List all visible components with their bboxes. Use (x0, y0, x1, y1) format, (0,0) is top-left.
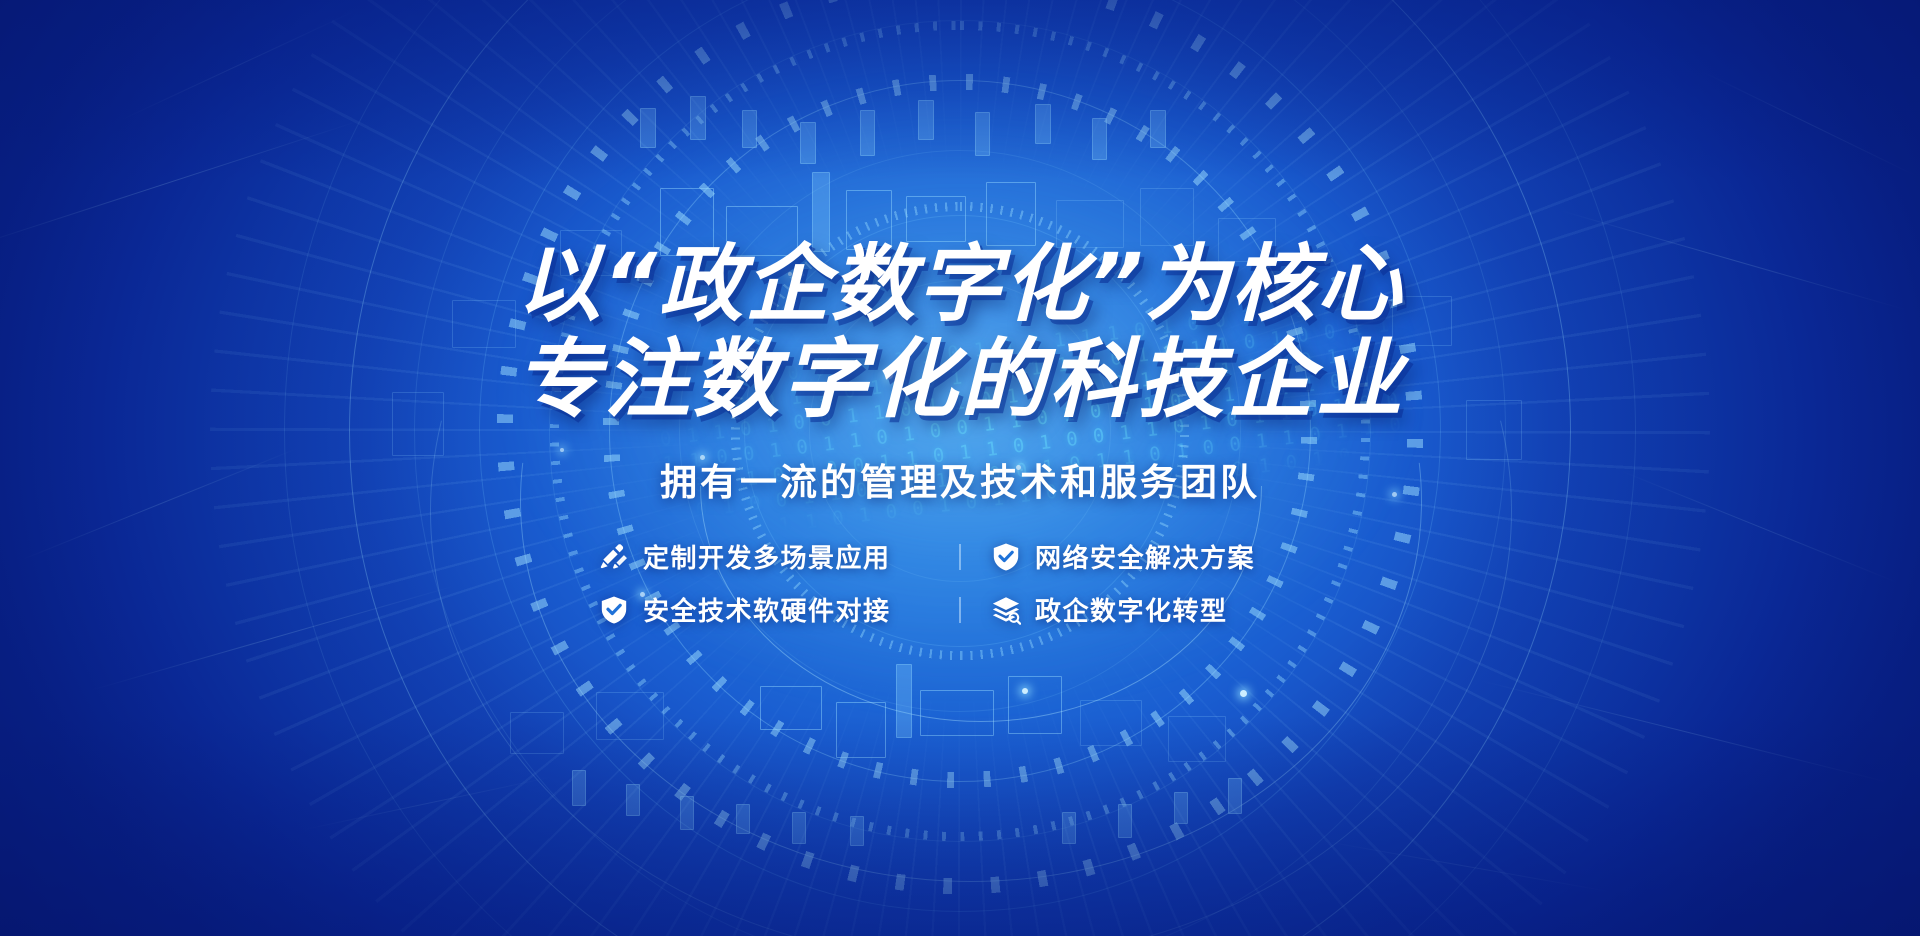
feature-item-label: 安全技术软硬件对接 (643, 591, 891, 628)
feature-item-label: 定制开发多场景应用 (643, 538, 891, 575)
feature-list: 定制开发多场景应用 网络安全解决方案 (599, 538, 1321, 628)
feature-item-network-security[interactable]: 网络安全解决方案 (991, 538, 1321, 575)
feature-item-label: 网络安全解决方案 (1035, 538, 1255, 575)
hero-banner: 0 1 0 1 1 0 0 1 0 1 1 0 1 0 0 1 1 1 0 1 … (0, 0, 1920, 936)
headline-line-1: 以“政企数字化”为核心 (515, 236, 1405, 332)
headline-line-2: 专注数字化的科技企业 (515, 332, 1405, 428)
headline: 以“政企数字化”为核心 专注数字化的科技企业 (515, 236, 1405, 428)
code-brackets-icon (599, 542, 629, 572)
feature-divider (959, 544, 961, 570)
feature-row-2: 安全技术软硬件对接 政企数字化转型 (599, 591, 1321, 628)
feature-item-digital-transformation[interactable]: 政企数字化转型 (991, 591, 1321, 628)
shield-check-icon (991, 542, 1021, 572)
shield-check-icon (599, 595, 629, 625)
feature-item-custom-development[interactable]: 定制开发多场景应用 (599, 538, 929, 575)
layers-search-icon (991, 595, 1021, 625)
feature-item-security-integration[interactable]: 安全技术软硬件对接 (599, 591, 929, 628)
banner-content: 以“政企数字化”为核心 专注数字化的科技企业 拥有一流的管理及技术和服务团队 (0, 0, 1920, 936)
feature-row-1: 定制开发多场景应用 网络安全解决方案 (599, 538, 1321, 575)
feature-divider (959, 597, 961, 623)
subtitle: 拥有一流的管理及技术和服务团队 (660, 452, 1260, 506)
feature-item-label: 政企数字化转型 (1035, 591, 1228, 628)
